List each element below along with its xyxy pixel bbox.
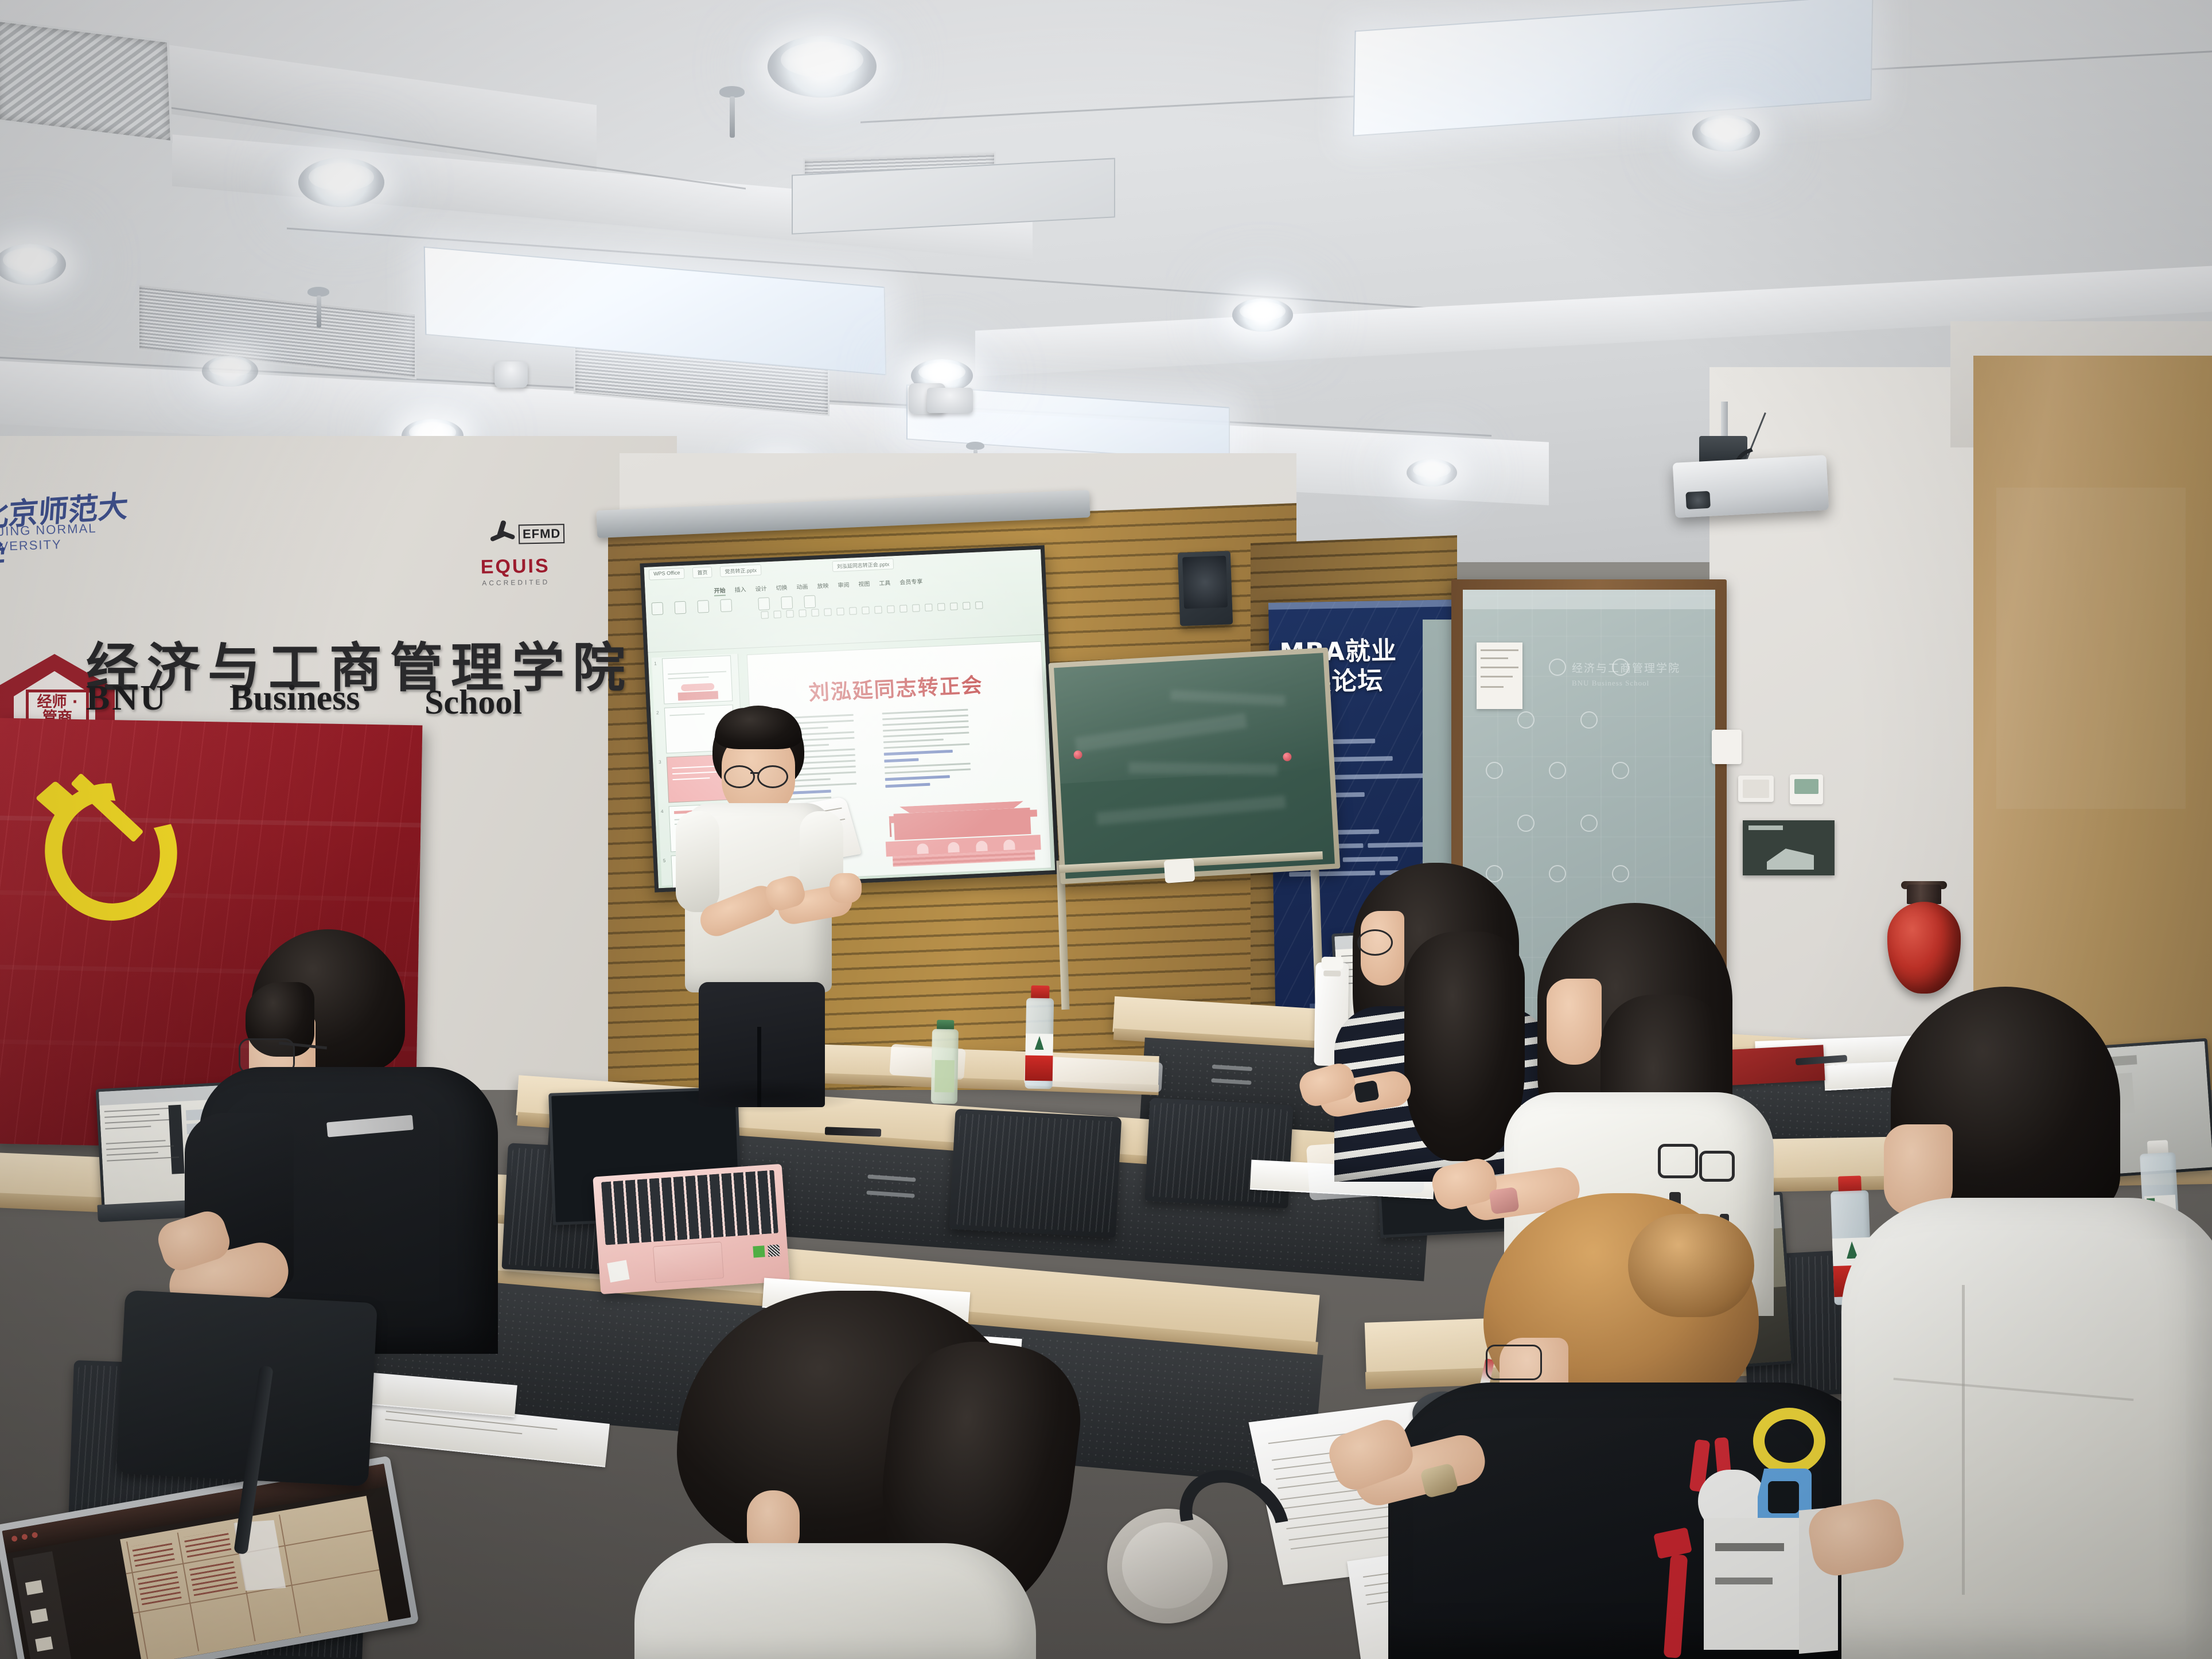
hammer-and-sickle-icon [35,776,169,899]
sleeve [676,811,719,912]
hand [829,873,862,903]
tea-bottle[interactable] [931,1020,959,1104]
efmd-accreditation-logo: EFMD [488,516,581,553]
light-switch-panel[interactable] [1738,776,1774,802]
glass-sign-en: BNU Business School [1572,679,1709,688]
eyeglasses [1357,929,1393,956]
projector-mount-rod [1721,402,1728,439]
downlight [1692,115,1760,151]
downlight [298,158,384,207]
office-chair[interactable] [949,1109,1122,1238]
efmd-label: EFMD [519,524,565,544]
equis-sublabel: ACCREDITED [482,578,550,587]
eyeglasses [724,765,755,788]
board-eraser-cloth[interactable] [1164,858,1195,883]
classroom-photograph: 北京师范大学 BEIJING NORMAL UNIVERSITY EFMD EQ… [0,0,2212,1659]
laptop-keyboard[interactable] [601,1170,778,1245]
presenter [665,706,860,1107]
chalkboard [1049,648,1341,885]
university-logo: 北京师范大学 BEIJING NORMAL UNIVERSITY [0,484,150,552]
student-ponytail-white [562,1291,1147,1659]
thermostat-panel[interactable] [1790,774,1823,804]
downlight [1407,459,1457,486]
smoke-detector [927,388,973,413]
water-bottle-nongfu[interactable] [1023,986,1055,1089]
eyeglasses [1486,1345,1542,1380]
white-shirt [1841,1198,2212,1659]
shirt-seam [1962,1285,1965,1595]
efmd-mark-icon [489,520,516,547]
door-notice-paper [1477,642,1522,709]
ceiling-panel-light [1353,0,1873,137]
trackpad[interactable] [653,1241,724,1283]
hvac-vent [0,19,173,143]
pink-laptop[interactable] [593,1164,789,1295]
projector-lens-icon [1685,491,1711,509]
red-floor-vase [1886,885,1962,994]
laptop-sticker [607,1260,629,1282]
sprinkler-head [314,287,322,327]
glass-etched-signage: 经济与工商管理学院 BNU Business School [1572,660,1709,695]
school-name-en-1: BNU [86,678,168,719]
smartwatch [1353,1080,1379,1103]
ceiling-projector [1673,455,1829,518]
university-name-en: BEIJING NORMAL UNIVERSITY [0,519,150,555]
white-shirt [634,1543,1036,1659]
face [1547,979,1602,1065]
glass-sign-cn: 经济与工商管理学院 [1572,660,1709,675]
eyeglasses [757,765,788,788]
school-name-en-2: Business [229,678,360,719]
hvac-vent [138,283,416,379]
equis-accreditation-logo: EQUIS ACCREDITED [480,554,584,591]
bottle-cap [1031,986,1049,1000]
equis-label: EQUIS [480,555,550,578]
laptop-sticker-qr [768,1244,780,1256]
downlight [1232,298,1293,332]
hair-fringe [715,708,802,749]
downlight [0,244,66,285]
downlight [202,356,258,387]
wall-notice-sign [1743,820,1835,875]
student-right-white-shirt [1859,987,2212,1659]
smoke-detector [494,361,528,388]
downlight [768,36,877,98]
wall-speaker [1178,551,1233,626]
office-chair[interactable] [1144,1098,1293,1209]
sprinkler-head [727,86,737,138]
school-name-en-3: School [425,683,522,722]
presenter-shadow [677,1078,860,1113]
hair-bun-knot [1628,1214,1754,1317]
student-left-black-polo [98,929,505,1354]
door-sensor-box [1712,730,1742,764]
laptop-sticker [753,1245,765,1257]
